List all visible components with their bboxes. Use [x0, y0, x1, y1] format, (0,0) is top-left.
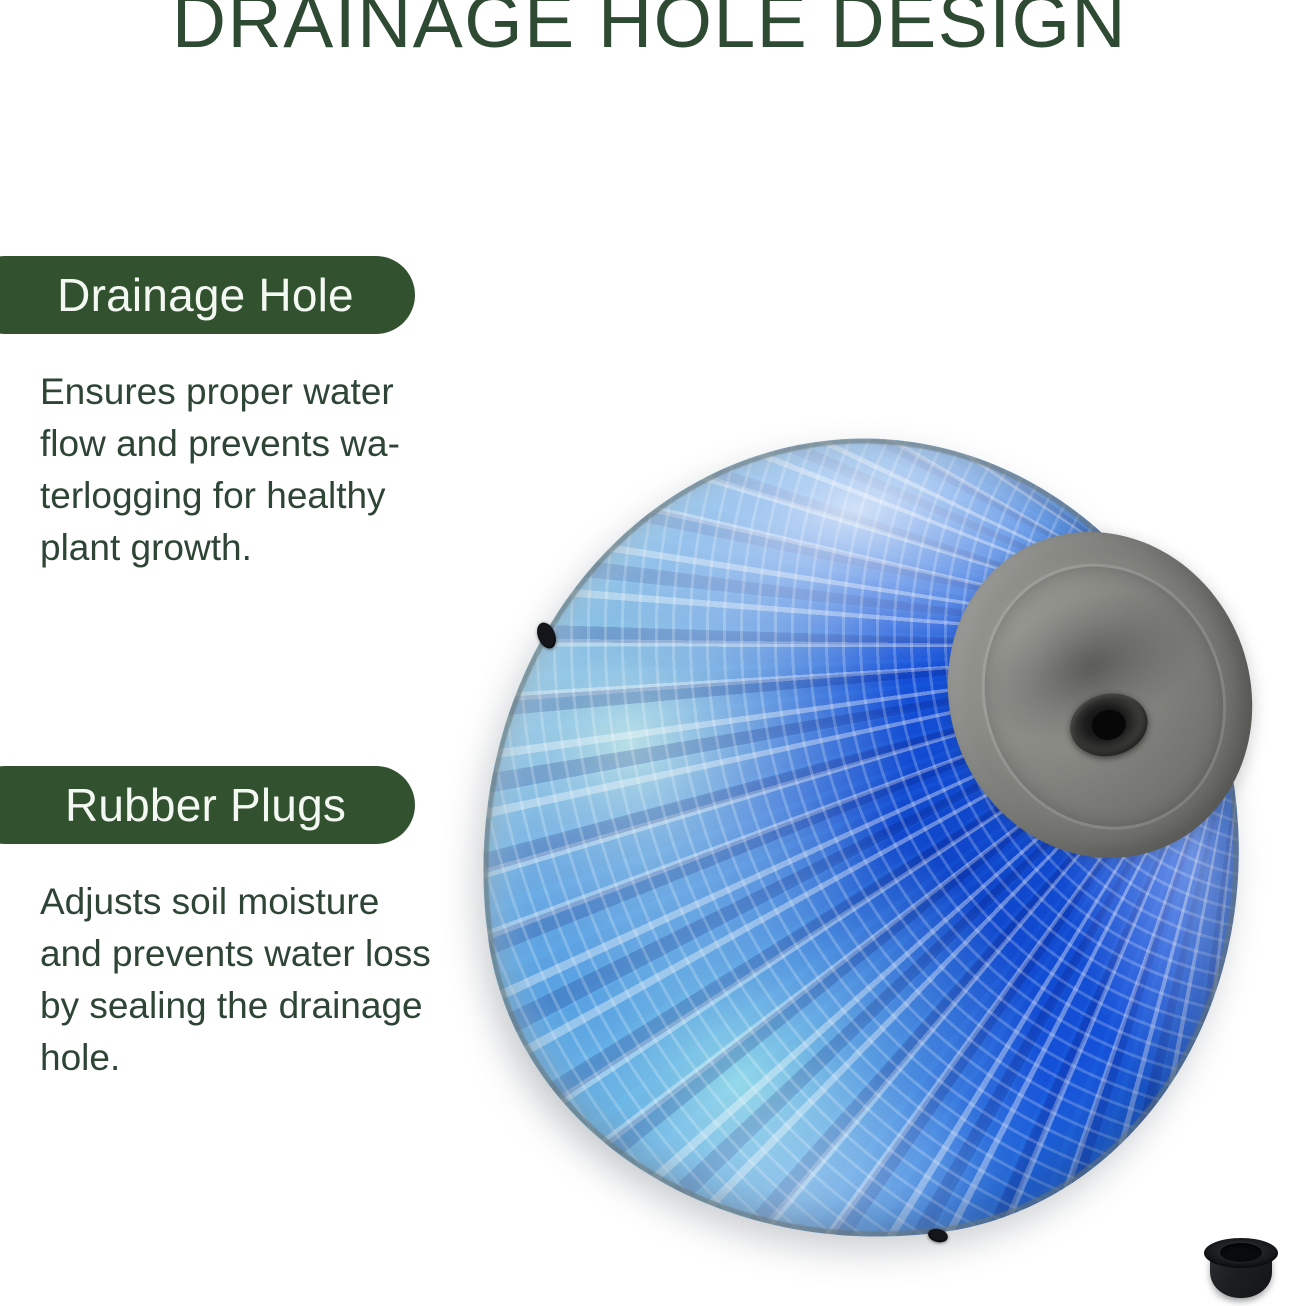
feature-block-rubber-plugs: Rubber Plugs Adjusts soil moisture and p… — [0, 766, 470, 1084]
feature-description-line: and prevents water loss — [40, 928, 452, 980]
feature-block-drainage-hole: Drainage Hole Ensures proper water flow … — [0, 256, 470, 574]
infographic-canvas: DRAINAGE HOLE DESIGN Drainage Hole Ensur… — [0, 0, 1299, 1306]
feature-description-drainage-hole: Ensures proper water flow and prevents w… — [0, 366, 470, 574]
rubber-plug-image — [1204, 1232, 1278, 1306]
product-image — [430, 400, 1299, 1306]
feature-description-line: plant growth. — [40, 522, 452, 574]
feature-label-rubber-plugs: Rubber Plugs — [65, 782, 346, 828]
center-drainage-hole-bore — [1089, 707, 1129, 743]
feature-description-line: flow and prevents wa- — [40, 418, 452, 470]
feature-description-line: terlogging for healthy — [40, 470, 452, 522]
feature-description-line: Ensures proper water — [40, 366, 452, 418]
feature-pill-drainage-hole: Drainage Hole — [0, 256, 415, 334]
feature-pill-rubber-plugs: Rubber Plugs — [0, 766, 415, 844]
feature-description-line: Adjusts soil moisture — [40, 876, 452, 928]
rubber-plug-bore — [1220, 1243, 1262, 1262]
feature-description-line: hole. — [40, 1032, 452, 1084]
feature-description-line: by sealing the drainage — [40, 980, 452, 1032]
feature-label-drainage-hole: Drainage Hole — [57, 272, 354, 318]
page-title: DRAINAGE HOLE DESIGN — [0, 0, 1299, 59]
feature-description-rubber-plugs: Adjusts soil moisture and prevents water… — [0, 876, 470, 1084]
